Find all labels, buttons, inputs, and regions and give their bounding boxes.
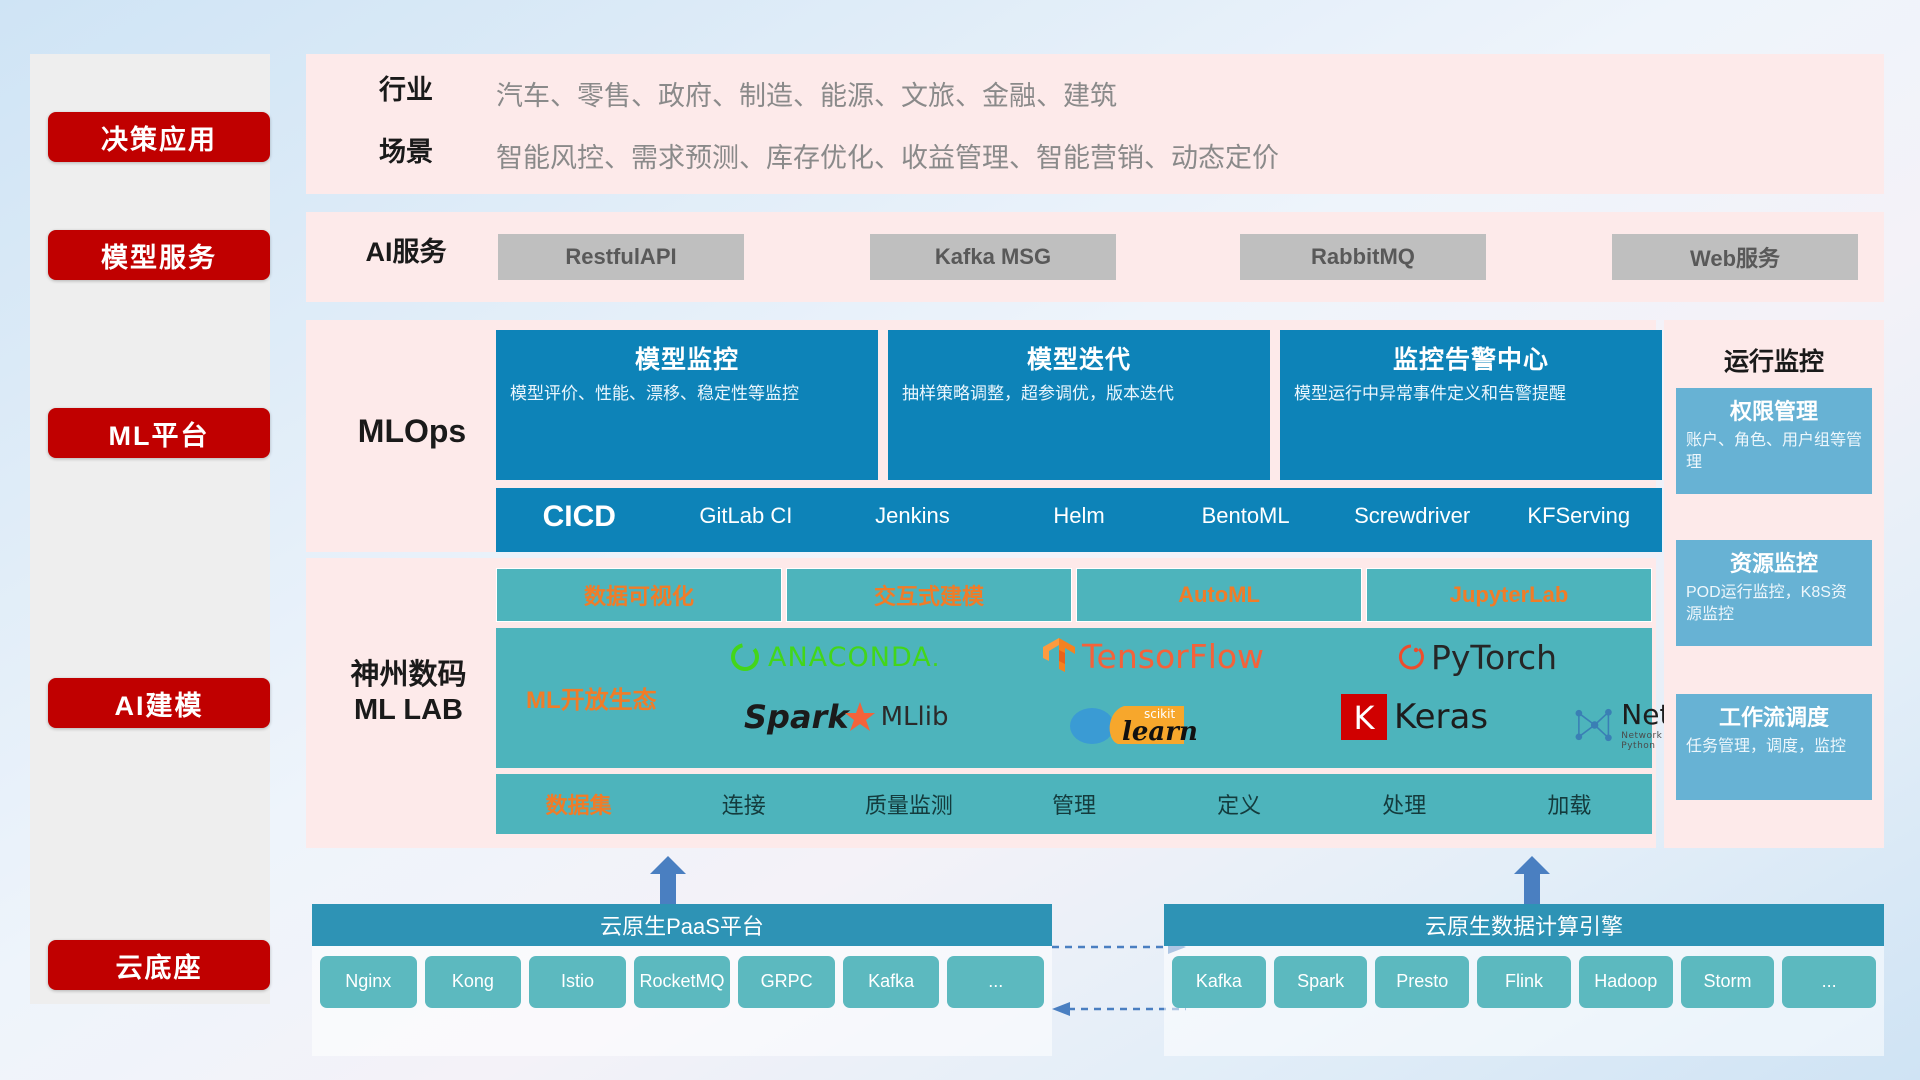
modeling-tab-data-visualization[interactable]: 数据可视化 [496, 568, 782, 622]
mlops-card-model-monitoring[interactable]: 模型监控 模型评价、性能、漂移、稳定性等监控 [496, 330, 878, 480]
compute-chip-storm[interactable]: Storm [1681, 956, 1775, 1008]
tab-label: 交互式建模 [874, 579, 984, 611]
decision-application-band: 行业 汽车、零售、政府、制造、能源、文旅、金融、建筑 场景 智能风控、需求预测、… [306, 54, 1884, 194]
card-title: 监控告警中心 [1294, 340, 1648, 376]
stage-chip-model-service[interactable]: 模型服务 [48, 230, 270, 280]
ml-ecosystem-band: ML开放生态 ANACONDA . TensorFlow [496, 628, 1652, 768]
cicd-item-kfserving[interactable]: KFServing [1495, 488, 1662, 530]
tensorflow-logo: TensorFlow [1041, 636, 1264, 676]
ai-service-item-rabbitmq[interactable]: RabbitMQ [1240, 234, 1486, 280]
compute-engine-box: 云原生数据计算引擎 Kafka Spark Presto Flink Hadoo… [1164, 904, 1884, 1056]
card-desc: 任务管理，调度，监控 [1686, 736, 1862, 758]
tab-label: AutoML [1178, 582, 1260, 608]
networkx-icon [1571, 703, 1616, 747]
dataset-head: 数据集 [496, 788, 661, 820]
card-title: 模型迭代 [902, 340, 1256, 376]
ai-service-label: AI服务 [336, 236, 476, 269]
mllib-wordmark: MLlib [881, 702, 949, 732]
compute-chip-flink[interactable]: Flink [1477, 956, 1571, 1008]
monitoring-card-workflow[interactable]: 工作流调度 任务管理，调度，监控 [1676, 694, 1872, 800]
stage-chip-decision-app[interactable]: 决策应用 [48, 112, 270, 162]
mlops-label: MLOps [322, 412, 502, 451]
arrow-up-compute-icon [1512, 856, 1552, 906]
keras-icon: K [1341, 694, 1387, 740]
mlops-band: MLOps 模型监控 模型评价、性能、漂移、稳定性等监控 模型迭代 抽样策略调整… [306, 320, 1656, 552]
compute-engine-title: 云原生数据计算引擎 [1164, 904, 1884, 946]
compute-chip-presto[interactable]: Presto [1375, 956, 1469, 1008]
ml-ecosystem-label: ML开放生态 [526, 680, 657, 715]
card-title: 资源监控 [1686, 546, 1862, 578]
ai-service-item-web-service[interactable]: Web服务 [1612, 234, 1858, 280]
scenario-row-label: 场景 [346, 136, 466, 169]
stage-label: 决策应用 [101, 118, 217, 157]
anaconda-wordmark: ANACONDA [768, 642, 932, 673]
ml-lab-label: 神州数码 ML LAB [316, 658, 501, 729]
dataset-item-quality-monitor[interactable]: 质量监测 [826, 788, 991, 820]
industry-row-value: 汽车、零售、政府、制造、能源、文旅、金融、建筑 [496, 74, 1117, 113]
dataset-item-load[interactable]: 加载 [1487, 788, 1652, 820]
pytorch-icon [1396, 641, 1426, 675]
item-label: RestfulAPI [565, 244, 676, 270]
card-title: 模型监控 [510, 340, 864, 376]
spark-star-icon [843, 700, 877, 734]
monitoring-card-resource[interactable]: 资源监控 POD运行监控，K8S资源监控 [1676, 540, 1872, 646]
card-title: 权限管理 [1686, 394, 1862, 426]
card-title: 工作流调度 [1686, 700, 1862, 732]
paas-chip-kafka[interactable]: Kafka [843, 956, 940, 1008]
dataset-item-manage[interactable]: 管理 [991, 788, 1156, 820]
dataset-item-process[interactable]: 处理 [1322, 788, 1487, 820]
card-desc: 模型运行中异常事件定义和告警提醒 [1294, 382, 1648, 405]
dataset-bar: 数据集 连接 质量监测 管理 定义 处理 加载 [496, 774, 1652, 834]
card-desc: 账户、角色、用户组等管理 [1686, 430, 1862, 473]
monitoring-title: 运行监控 [1664, 342, 1884, 378]
stage-chip-cloud-base[interactable]: 云底座 [48, 940, 270, 990]
anaconda-icon [728, 640, 762, 674]
tab-label: 数据可视化 [584, 579, 694, 611]
paas-platform-title: 云原生PaaS平台 [312, 904, 1052, 946]
cicd-item-screwdriver[interactable]: Screwdriver [1329, 488, 1496, 530]
spark-mllib-logo: Spark MLlib [744, 698, 948, 736]
keras-logo: K Keras [1341, 694, 1488, 740]
compute-chip-more[interactable]: ... [1782, 956, 1876, 1008]
cicd-item-jenkins[interactable]: Jenkins [829, 488, 996, 530]
paas-chip-row: Nginx Kong Istio RocketMQ GRPC Kafka ... [312, 946, 1052, 1018]
pytorch-wordmark: PyTorch [1431, 638, 1557, 677]
compute-chip-spark[interactable]: Spark [1274, 956, 1368, 1008]
mlops-card-model-iteration[interactable]: 模型迭代 抽样策略调整，超参调优，版本迭代 [888, 330, 1270, 480]
stage-label: 云底座 [116, 946, 203, 985]
arrow-up-paas-icon [648, 856, 688, 906]
cicd-item-bentoml[interactable]: BentoML [1162, 488, 1329, 530]
anaconda-logo: ANACONDA . [728, 640, 939, 674]
mlops-card-alert-center[interactable]: 监控告警中心 模型运行中异常事件定义和告警提醒 [1280, 330, 1662, 480]
cicd-head: CICD [496, 488, 663, 536]
keras-wordmark: Keras [1394, 697, 1488, 737]
dataset-item-define[interactable]: 定义 [1157, 788, 1322, 820]
ai-service-band: AI服务 RestfulAPI Kafka MSG RabbitMQ Web服务 [306, 212, 1884, 302]
ml-lab-label-line1: 神州数码 [316, 658, 501, 693]
card-desc: 抽样策略调整，超参调优，版本迭代 [902, 382, 1256, 405]
industry-row-label: 行业 [346, 74, 466, 107]
tab-label: JupyterLab [1450, 582, 1569, 608]
ai-service-item-restfulapi[interactable]: RestfulAPI [498, 234, 744, 280]
stage-chip-ai-modeling[interactable]: AI建模 [48, 678, 270, 728]
paas-chip-istio[interactable]: Istio [529, 956, 626, 1008]
cicd-item-gitlab-ci[interactable]: GitLab CI [663, 488, 830, 530]
stage-chip-ml-platform[interactable]: ML平台 [48, 408, 270, 458]
monitoring-card-permission[interactable]: 权限管理 账户、角色、用户组等管理 [1676, 388, 1872, 494]
stage-column [30, 54, 270, 1004]
scikit-learn-logo: scikit learn [1066, 696, 1196, 748]
paas-chip-kong[interactable]: Kong [425, 956, 522, 1008]
tensorflow-wordmark: TensorFlow [1082, 637, 1264, 676]
item-label: RabbitMQ [1311, 244, 1415, 270]
scenario-row-value: 智能风控、需求预测、库存优化、收益管理、智能营销、动态定价 [496, 136, 1279, 175]
modeling-tab-automl[interactable]: AutoML [1076, 568, 1362, 622]
svg-text:learn: learn [1122, 717, 1196, 747]
paas-chip-more[interactable]: ... [947, 956, 1044, 1008]
stage-label: AI建模 [115, 684, 204, 723]
compute-chip-kafka[interactable]: Kafka [1172, 956, 1266, 1008]
scikit-learn-icon: scikit learn [1066, 696, 1196, 748]
stage-label: ML平台 [109, 414, 210, 453]
card-desc: POD运行监控，K8S资源监控 [1686, 582, 1862, 625]
stage-label: 模型服务 [101, 236, 217, 275]
svg-text:K: K [1354, 699, 1376, 737]
modeling-tab-jupyterlab[interactable]: JupyterLab [1366, 568, 1652, 622]
modeling-tab-interactive-modeling[interactable]: 交互式建模 [786, 568, 1072, 622]
tensorflow-icon [1041, 636, 1077, 676]
item-label: Web服务 [1690, 241, 1780, 273]
paas-chip-nginx[interactable]: Nginx [320, 956, 417, 1008]
ml-lab-label-line2: ML LAB [316, 693, 501, 728]
dataset-item-connect[interactable]: 连接 [661, 788, 826, 820]
cicd-item-helm[interactable]: Helm [996, 488, 1163, 530]
compute-chip-row: Kafka Spark Presto Flink Hadoop Storm ..… [1164, 946, 1884, 1018]
cicd-bar: CICD GitLab CI Jenkins Helm BentoML Scre… [496, 488, 1662, 552]
architecture-diagram: 决策应用 模型服务 ML平台 AI建模 云底座 行业 汽车、零售、政府、制造、能… [0, 0, 1920, 1080]
paas-chip-rocketmq[interactable]: RocketMQ [634, 956, 731, 1008]
paas-platform-box: 云原生PaaS平台 Nginx Kong Istio RocketMQ GRPC… [312, 904, 1052, 1056]
paas-chip-grpc[interactable]: GRPC [738, 956, 835, 1008]
pytorch-logo: PyTorch [1396, 638, 1557, 677]
compute-chip-hadoop[interactable]: Hadoop [1579, 956, 1673, 1008]
card-desc: 模型评价、性能、漂移、稳定性等监控 [510, 382, 864, 405]
ml-lab-band: 神州数码 ML LAB 数据可视化 交互式建模 AutoML JupyterLa… [306, 558, 1656, 848]
item-label: Kafka MSG [935, 244, 1051, 270]
ai-service-item-kafka-msg[interactable]: Kafka MSG [870, 234, 1116, 280]
